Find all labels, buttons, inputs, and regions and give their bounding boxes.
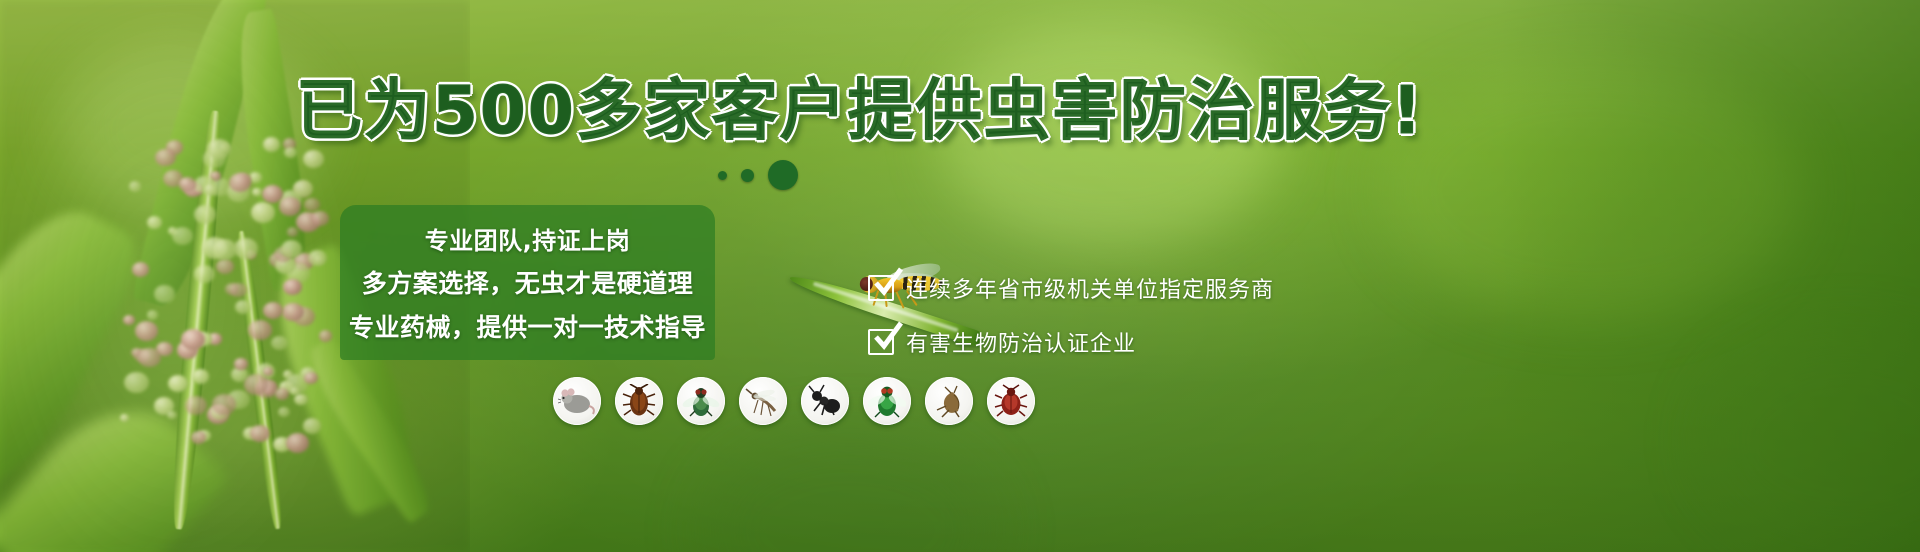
info-panel-text: 专业团队,持证上岗 多方案选择，无虫才是硬道理 专业药械，提供一对一技术指导 (340, 205, 715, 360)
blowfly-icon[interactable] (863, 377, 911, 425)
promo-banner: 已为500多家客户提供虫害防治服务! 专业团队,持证上岗 多方案选择，无虫才是硬… (0, 0, 1920, 552)
list-item: 连续多年省市级机关单位指定服务商 (868, 272, 1274, 304)
background-right-fade (1500, 0, 1920, 552)
bedbug-icon[interactable] (987, 377, 1035, 425)
checkbox-checked-icon (868, 329, 894, 355)
page-title: 已为500多家客户提供虫害防治服务! (296, 78, 1296, 144)
list-item: 有害生物防治认证企业 (868, 326, 1274, 358)
mosquito-icon[interactable] (739, 377, 787, 425)
dot-icon (741, 169, 754, 182)
dot-icon (768, 160, 798, 190)
fly-icon[interactable] (677, 377, 725, 425)
dot-divider (718, 160, 798, 190)
mouse-icon[interactable] (553, 377, 601, 425)
cockroach-icon[interactable] (615, 377, 663, 425)
bullet-label: 有害生物防治认证企业 (906, 326, 1136, 358)
pest-type-icon-row (553, 377, 1035, 425)
dot-icon (718, 171, 727, 180)
panel-line-3: 专业药械，提供一对一技术指导 (349, 308, 706, 344)
feature-bullet-list: 连续多年省市级机关单位指定服务商 有害生物防治认证企业 (868, 272, 1274, 358)
checkbox-checked-icon (868, 275, 894, 301)
bullet-label: 连续多年省市级机关单位指定服务商 (906, 272, 1274, 304)
panel-line-1: 专业团队,持证上岗 (425, 221, 631, 256)
flea-icon[interactable] (925, 377, 973, 425)
panel-line-2: 多方案选择，无虫才是硬道理 (362, 264, 694, 300)
ant-icon[interactable] (801, 377, 849, 425)
